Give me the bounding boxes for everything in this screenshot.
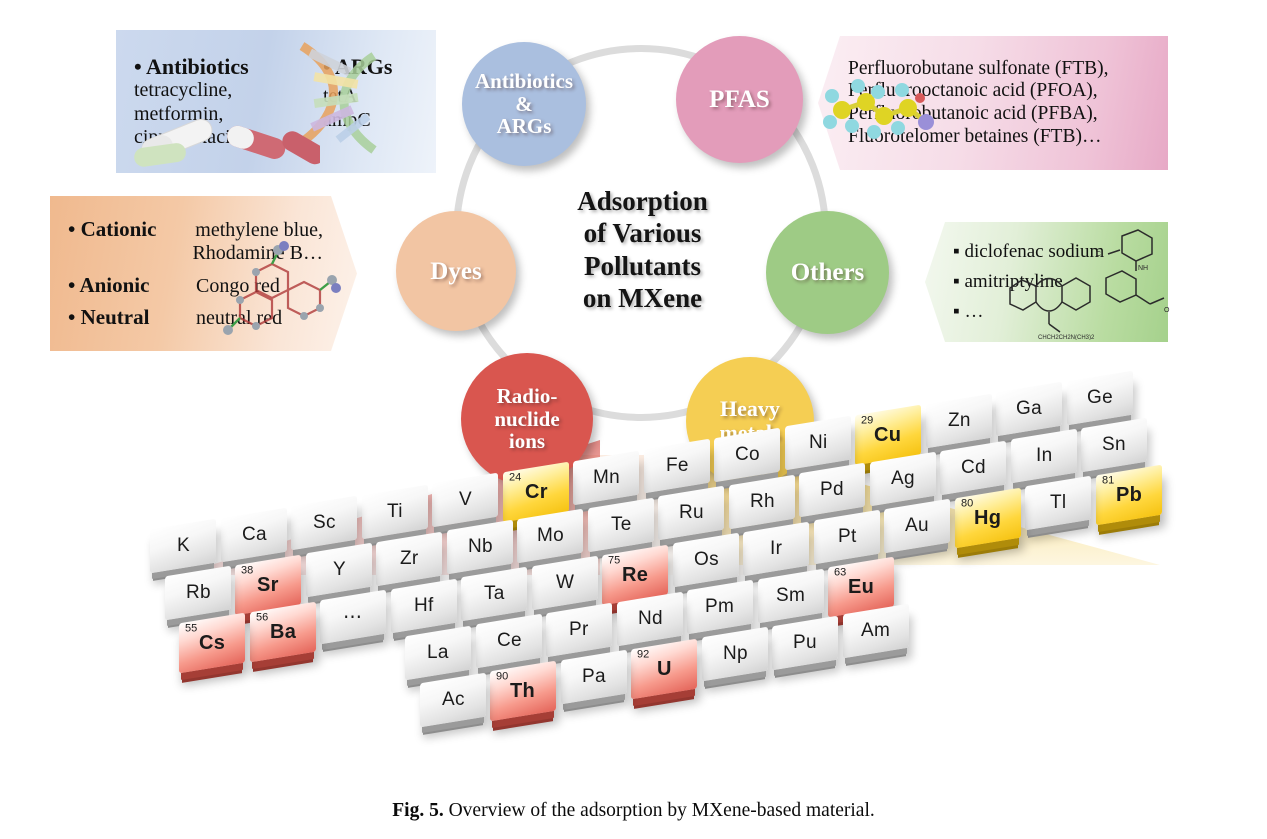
element-symbol: Rb: [185, 582, 210, 604]
element-tile-In[interactable]: In: [1011, 429, 1077, 484]
bullet-icon: ▪: [953, 271, 960, 292]
element-tile-U[interactable]: 92U: [631, 638, 697, 699]
element-tile-Sc[interactable]: Sc: [291, 496, 357, 551]
element-symbol: Pb: [1115, 483, 1141, 506]
element-symbol: La: [427, 642, 449, 664]
element-tile-Pu[interactable]: Pu: [772, 615, 838, 670]
panel-antibiotics-title: Antibiotics: [146, 54, 249, 79]
element-tile-Fe[interactable]: Fe: [644, 439, 710, 494]
element-tile-Ir[interactable]: Ir: [743, 521, 809, 576]
element-symbol: Y: [332, 559, 345, 581]
panel-dyes-label-2: Anionic: [79, 273, 149, 297]
panel-args-item-1: ampC: [323, 109, 392, 132]
panel-antibiotics-item-0: tetracycline,: [134, 79, 309, 102]
center-title-line-3: on MXene: [540, 282, 745, 314]
panel-antibiotics-args: • Antibiotics tetracycline, metformin, c…: [116, 30, 436, 173]
element-atomic-number: 92: [637, 648, 649, 660]
element-tile-Pm[interactable]: Pm: [687, 580, 753, 635]
element-symbol: Pr: [569, 619, 589, 641]
figure-number: Fig. 5.: [392, 800, 443, 821]
periodic-table-board: KCaScTiV24CrMnFeCoNi29CuZnGaGeRb38SrYZrN…: [0, 452, 1267, 782]
element-tile-Os[interactable]: Os: [673, 533, 739, 588]
element-symbol: Pm: [705, 596, 734, 618]
panel-antibiotics-item-1: metformin,: [134, 103, 309, 126]
panel-pfas-item-0: Perfluorobutane sulfonate (FTB),: [848, 58, 1150, 81]
element-symbol: Ta: [484, 583, 505, 605]
bubble-antibiotics-label: Antibiotics & ARGs: [475, 70, 573, 138]
element-symbol: Zn: [947, 410, 970, 432]
element-tile-Mn[interactable]: Mn: [573, 450, 639, 505]
element-atomic-number: 55: [185, 622, 197, 634]
element-tile-Pa[interactable]: Pa: [561, 650, 627, 705]
element-symbol: Tl: [1050, 492, 1066, 514]
element-symbol: Mn: [593, 467, 620, 489]
panel-args-item-0: tetA: [323, 85, 392, 108]
element-symbol: Hf: [414, 595, 434, 617]
element-atomic-number: 81: [1102, 474, 1114, 486]
panel-pfas-item-1: Perfluorooctanoic acid (PFOA),: [848, 80, 1150, 103]
element-atomic-number: 80: [961, 497, 973, 509]
element-tile-Ag[interactable]: Ag: [870, 452, 936, 507]
element-tile-Ni[interactable]: Ni: [785, 416, 851, 471]
element-symbol: Ni: [808, 432, 827, 454]
element-tile-Sn[interactable]: Sn: [1081, 417, 1147, 472]
element-tile-Sm[interactable]: Sm: [758, 568, 824, 623]
bullet-icon: •: [134, 54, 142, 79]
bullet-icon: ▪: [953, 241, 960, 262]
element-atomic-number: 56: [256, 611, 268, 623]
panel-others-item-1: amitriptyline: [965, 271, 1063, 292]
element-tile-Ti[interactable]: Ti: [362, 484, 428, 539]
element-symbol: Nb: [467, 536, 492, 558]
element-symbol: Au: [905, 515, 929, 537]
element-tile-Zr[interactable]: Zr: [376, 531, 442, 586]
bubble-antibiotics-args[interactable]: Antibiotics & ARGs: [462, 42, 586, 166]
panel-dyes-value-3: neutral red: [196, 307, 282, 330]
element-atomic-number: 63: [834, 567, 846, 579]
bullet-icon: ▪: [953, 301, 960, 322]
element-tile-Np[interactable]: Np: [702, 627, 768, 682]
bubble-pfas[interactable]: PFAS: [676, 36, 803, 163]
center-title: Adsorption of Various Pollutants on MXen…: [540, 185, 745, 315]
element-tile-Rh[interactable]: Rh: [729, 474, 795, 529]
element-symbol: Zr: [400, 548, 419, 570]
element-symbol: K: [177, 535, 190, 557]
element-tile-Pr[interactable]: Pr: [546, 603, 612, 658]
element-tile-Y[interactable]: Y: [306, 543, 372, 598]
bubble-others[interactable]: Others: [766, 211, 889, 334]
bubble-dyes-label: Dyes: [430, 258, 481, 285]
element-tile-Hf[interactable]: Hf: [391, 578, 457, 633]
element-tile-Ru[interactable]: Ru: [658, 486, 724, 541]
element-symbol: Cr: [524, 481, 547, 504]
element-symbol: Am: [861, 620, 890, 642]
bubble-others-label: Others: [791, 259, 865, 286]
bubble-pfas-label: PFAS: [709, 86, 770, 113]
element-symbol: Os: [693, 549, 718, 571]
element-tile-Ca[interactable]: Ca: [221, 507, 287, 562]
element-tile-Ta[interactable]: Ta: [461, 567, 527, 622]
element-symbol: Ba: [269, 620, 295, 643]
element-symbol: Pu: [793, 632, 817, 654]
bullet-icon: •: [323, 54, 331, 79]
figure-canvas: • Antibiotics tetracycline, metformin, c…: [0, 0, 1267, 839]
element-tile-Zn[interactable]: Zn: [926, 393, 992, 448]
element-symbol: V: [459, 489, 472, 511]
element-symbol: ⋯: [343, 606, 362, 629]
element-tile-Am[interactable]: Am: [843, 604, 909, 659]
panel-dyes-value-0: methylene blue,: [195, 219, 323, 242]
element-symbol: Mo: [537, 525, 564, 547]
center-title-line-0: Adsorption: [540, 185, 745, 217]
element-symbol: Nd: [637, 608, 662, 630]
element-symbol: Ga: [1016, 398, 1042, 420]
element-symbol: Fe: [665, 455, 688, 477]
panel-dyes-label-3: Neutral: [81, 305, 150, 329]
element-tile-Pd[interactable]: Pd: [799, 463, 865, 518]
element-tile-Mo[interactable]: Mo: [517, 509, 583, 564]
element-symbol: W: [555, 572, 573, 594]
panel-others: ▪ diclofenac sodium ▪ amitriptyline ▪ …: [925, 222, 1168, 342]
element-tile-Te[interactable]: Te: [588, 497, 654, 552]
panel-pfas-item-2: Perfluorobutanoic acid (PFBA),: [848, 103, 1150, 126]
element-tile-Pb[interactable]: 81Pb: [1096, 464, 1162, 525]
element-tile-Ga[interactable]: Ga: [996, 382, 1062, 437]
element-atomic-number: 90: [496, 671, 508, 683]
element-tile-Pt[interactable]: Pt: [814, 510, 880, 565]
element-atomic-number: 24: [509, 471, 521, 483]
panel-dyes-label-0: Cationic: [81, 217, 157, 241]
element-symbol: Cs: [199, 632, 225, 655]
element-symbol: Ca: [241, 524, 266, 546]
element-symbol: Cd: [961, 457, 986, 479]
element-symbol: Sr: [257, 573, 279, 596]
element-symbol: Ac: [441, 689, 464, 711]
element-symbol: Sc: [313, 512, 336, 534]
element-symbol: Sn: [1102, 434, 1126, 456]
element-tile-Cs[interactable]: 55Cs: [179, 613, 245, 674]
panel-dyes-value-1: Rhodamine B…: [192, 242, 323, 265]
panel-others-item-2: …: [965, 301, 984, 322]
element-symbol: Pt: [837, 526, 856, 548]
panel-pfas: Perfluorobutane sulfonate (FTB), Perfluo…: [818, 36, 1168, 170]
element-tile-Tl[interactable]: Tl: [1025, 476, 1091, 531]
element-symbol: Ge: [1087, 387, 1113, 409]
element-symbol: Pa: [582, 666, 606, 688]
element-atomic-number: 29: [861, 414, 873, 426]
element-tile-Nb[interactable]: Nb: [447, 520, 513, 575]
element-symbol: In: [1035, 445, 1051, 467]
element-tile-Cd[interactable]: Cd: [940, 440, 1006, 495]
element-symbol: Ru: [679, 502, 704, 524]
element-symbol: Hg: [974, 506, 1001, 529]
figure-caption-text: Overview of the adsorption by MXene-base…: [449, 800, 875, 821]
bullet-icon: •: [68, 217, 75, 241]
panel-antibiotics-item-2: ciprofloxacin…: [134, 126, 309, 149]
element-symbol: U: [657, 657, 672, 680]
element-tile-V[interactable]: V: [432, 473, 498, 528]
element-symbol: Eu: [848, 576, 874, 599]
element-symbol: Rh: [749, 491, 774, 513]
element-symbol: Np: [722, 643, 747, 665]
element-tile-Ba[interactable]: 56Ba: [250, 601, 316, 662]
bullet-icon: •: [68, 305, 75, 329]
center-title-line-2: Pollutants: [540, 250, 745, 282]
element-symbol: Cu: [874, 424, 901, 447]
figure-caption: Fig. 5. Overview of the adsorption by MX…: [0, 800, 1267, 822]
element-symbol: Ce: [496, 630, 521, 652]
element-symbol: Co: [735, 444, 760, 466]
element-tile-K[interactable]: K: [150, 519, 216, 574]
panel-dyes-value-2: Congo red: [196, 275, 280, 298]
element-tile-W[interactable]: W: [532, 556, 598, 611]
element-atomic-number: 75: [608, 554, 620, 566]
element-symbol: Th: [510, 680, 535, 703]
bubble-radionuclide-label: Radio- nuclide ions: [494, 385, 559, 453]
element-tile-⋯[interactable]: ⋯: [320, 590, 386, 645]
element-symbol: Ir: [770, 538, 782, 560]
element-tile-Ce[interactable]: Ce: [476, 614, 542, 669]
element-tile-Rb[interactable]: Rb: [165, 566, 231, 621]
bubble-dyes[interactable]: Dyes: [396, 211, 516, 331]
element-symbol: Ti: [387, 501, 403, 523]
element-symbol: Te: [610, 514, 631, 536]
panel-others-item-0: diclofenac sodium: [965, 241, 1105, 262]
center-title-line-1: of Various: [540, 217, 745, 249]
element-tile-Ge[interactable]: Ge: [1067, 370, 1133, 425]
element-tile-La[interactable]: La: [405, 625, 471, 680]
element-symbol: Sm: [776, 585, 805, 607]
element-tile-Co[interactable]: Co: [714, 427, 780, 482]
bullet-icon: •: [68, 273, 75, 297]
element-tile-Hg[interactable]: 80Hg: [955, 487, 1021, 548]
element-tile-Au[interactable]: Au: [884, 499, 950, 554]
element-symbol: Ag: [891, 468, 915, 490]
panel-pfas-item-3: Fluorotelomer betaines (FTB)…: [848, 126, 1150, 149]
element-symbol: Pd: [820, 479, 844, 501]
element-tile-Th[interactable]: 90Th: [490, 661, 556, 722]
element-symbol: Re: [622, 563, 648, 586]
panel-args-title: ARGs: [335, 54, 392, 79]
panel-dyes: • Cationic methylene blue, Rhodamine B… …: [50, 196, 357, 351]
element-atomic-number: 38: [241, 564, 253, 576]
element-tile-Ac[interactable]: Ac: [420, 672, 486, 727]
